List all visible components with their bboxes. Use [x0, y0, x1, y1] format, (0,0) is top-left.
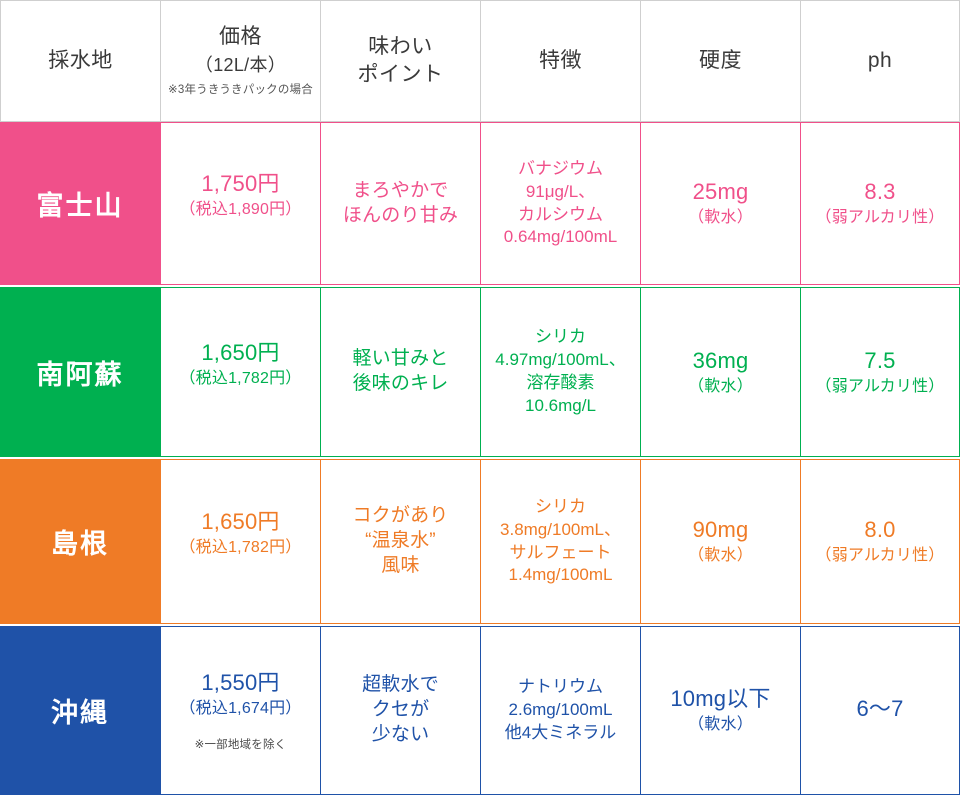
cell-taste: まろやかでほんのり甘み	[320, 122, 480, 285]
cell-taste: 軽い甘みと後味のキレ	[320, 287, 480, 457]
column-header-price: 価格 （12L/本） ※3年うきうきパックの場合	[160, 0, 320, 122]
ph-sub: （弱アルカリ性）	[816, 546, 945, 567]
hardness-sub: （軟水）	[688, 377, 753, 398]
cell-hardness: 25mg （軟水）	[640, 122, 800, 285]
cell-ph: 7.5 （弱アルカリ性）	[800, 287, 960, 457]
cell-feature: シリカ3.8mg/100mL、サルフェート1.4mg/100mL	[480, 459, 640, 624]
hardness-sub: （軟水）	[688, 208, 753, 229]
price-sub: （税込1,782円）	[179, 369, 301, 390]
table-header-row: 採水地 価格 （12L/本） ※3年うきうきパックの場合 味わい ポイント 特徴…	[0, 0, 960, 122]
price-sub: （税込1,890円）	[179, 200, 301, 221]
hardness-main: 36mg	[693, 347, 749, 375]
column-header-note: ※3年うきうきパックの場合	[168, 83, 313, 99]
cell-feature: バナジウム91μg/L、カルシウム0.64mg/100mL	[480, 122, 640, 285]
taste-text: コクがあり“温泉水”風味	[352, 504, 448, 578]
cell-feature: ナトリウム2.6mg/100mL他4大ミネラル	[480, 626, 640, 795]
taste-text: まろやかでほんのり甘み	[343, 179, 458, 228]
table-row: 沖縄 1,550円 （税込1,674円） ※一部地域を除く 超軟水でクセが少ない…	[0, 626, 960, 795]
cell-hardness: 10mg以下 （軟水）	[640, 626, 800, 795]
cell-ph: 8.3 （弱アルカリ性）	[800, 122, 960, 285]
water-comparison-table: 採水地 価格 （12L/本） ※3年うきうきパックの場合 味わい ポイント 特徴…	[0, 0, 960, 789]
hardness-sub: （軟水）	[688, 546, 753, 567]
feature-text: シリカ4.97mg/100mL、溶存酸素10.6mg/L	[495, 326, 625, 418]
hardness-sub: （軟水）	[688, 715, 753, 736]
taste-text: 軽い甘みと後味のキレ	[352, 347, 448, 396]
column-header-title: 特徴	[539, 47, 582, 75]
column-header-feature: 特徴	[480, 0, 640, 122]
cell-taste: 超軟水でクセが少ない	[320, 626, 480, 795]
ph-sub: （弱アルカリ性）	[816, 208, 945, 229]
column-header-title: 味わい	[368, 33, 433, 61]
table-row: 島根 1,650円 （税込1,782円） コクがあり“温泉水”風味 シリカ3.8…	[0, 459, 960, 624]
cell-taste: コクがあり“温泉水”風味	[320, 459, 480, 624]
cell-ph: 8.0 （弱アルカリ性）	[800, 459, 960, 624]
column-header-taste: 味わい ポイント	[320, 0, 480, 122]
column-header-subtitle: ポイント	[358, 61, 444, 89]
column-header-source: 採水地	[0, 0, 160, 122]
column-header-title: 硬度	[699, 47, 742, 75]
ph-main: 8.3	[864, 178, 895, 206]
feature-text: シリカ3.8mg/100mL、サルフェート1.4mg/100mL	[500, 496, 621, 588]
cell-hardness: 90mg （軟水）	[640, 459, 800, 624]
cell-price: 1,550円 （税込1,674円） ※一部地域を除く	[160, 626, 320, 795]
feature-text: ナトリウム2.6mg/100mL他4大ミネラル	[505, 676, 616, 745]
cell-hardness: 36mg （軟水）	[640, 287, 800, 457]
column-header-hardness: 硬度	[640, 0, 800, 122]
price-main: 1,650円	[201, 339, 279, 367]
row-label-cell: 南阿蘇	[0, 287, 160, 457]
price-main: 1,550円	[201, 669, 279, 697]
row-label-cell: 沖縄	[0, 626, 160, 795]
taste-text: 超軟水でクセが少ない	[362, 673, 439, 747]
price-sub: （税込1,674円）	[179, 699, 301, 720]
column-header-title: ph	[868, 47, 892, 75]
table-row: 富士山 1,750円 （税込1,890円） まろやかでほんのり甘み バナジウム9…	[0, 122, 960, 285]
cell-ph: 6〜7	[800, 626, 960, 795]
feature-text: バナジウム91μg/L、カルシウム0.64mg/100mL	[504, 158, 617, 250]
cell-price: 1,750円 （税込1,890円）	[160, 122, 320, 285]
price-sub: （税込1,782円）	[179, 538, 301, 559]
cell-price: 1,650円 （税込1,782円）	[160, 459, 320, 624]
ph-sub: （弱アルカリ性）	[816, 377, 945, 398]
row-label-cell: 富士山	[0, 122, 160, 285]
hardness-main: 10mg以下	[670, 685, 770, 713]
row-label-cell: 島根	[0, 459, 160, 624]
column-header-ph: ph	[800, 0, 960, 122]
hardness-main: 25mg	[693, 178, 749, 206]
price-note: ※一部地域を除く	[195, 736, 287, 752]
cell-price: 1,650円 （税込1,782円）	[160, 287, 320, 457]
column-header-title: 価格	[219, 23, 262, 51]
ph-main: 8.0	[864, 516, 895, 544]
column-header-subtitle: （12L/本）	[195, 53, 286, 77]
price-main: 1,750円	[201, 170, 279, 198]
column-header-title: 採水地	[48, 47, 113, 75]
ph-main: 6〜7	[856, 695, 903, 723]
hardness-main: 90mg	[693, 516, 749, 544]
ph-main: 7.5	[864, 347, 895, 375]
cell-feature: シリカ4.97mg/100mL、溶存酸素10.6mg/L	[480, 287, 640, 457]
table-row: 南阿蘇 1,650円 （税込1,782円） 軽い甘みと後味のキレ シリカ4.97…	[0, 287, 960, 457]
price-main: 1,650円	[201, 508, 279, 536]
